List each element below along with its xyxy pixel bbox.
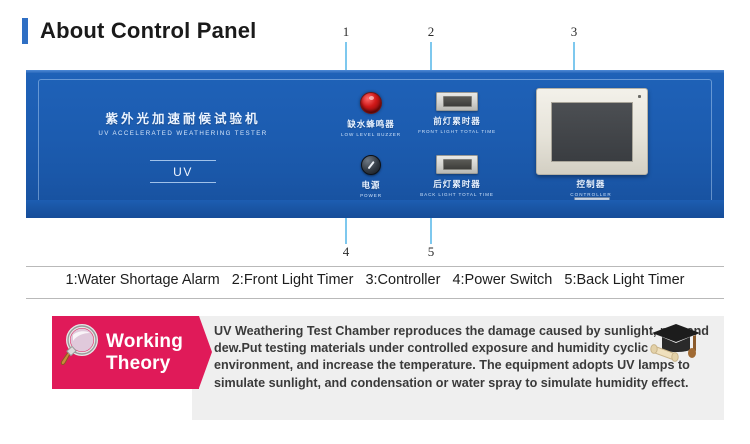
buzzer-lamp-icon[interactable] [360,92,382,114]
controller-hmi-unit[interactable] [536,88,648,175]
working-theory-tag-line2: Theory [106,353,199,375]
control-front-light-timer[interactable]: 前灯累时器 FRONT LIGHT TOTAL TIME [411,92,503,134]
control-low-level-buzzer[interactable]: 缺水蜂鸣器 LOW LEVEL BUZZER [326,92,416,137]
callout-number-1: 1 [339,24,353,40]
power-knob-icon[interactable] [361,155,381,175]
callout-leader-5 [430,218,432,244]
panel-brand-chinese: 紫外光加速耐候试验机 [88,108,278,127]
uv-badge: UV [150,160,216,183]
controller-touchscreen[interactable] [551,102,633,162]
buzzer-label-english: LOW LEVEL BUZZER [326,132,416,137]
power-label-chinese: 电源 [326,179,416,191]
magnifying-glass-icon [58,322,104,368]
page-title: About Control Panel [22,18,256,44]
front-timer-label-chinese: 前灯累时器 [411,115,503,127]
callout-number-3: 3 [567,24,581,40]
uv-badge-label: UV [173,165,193,179]
back-timer-label-chinese: 后灯累时器 [411,178,503,190]
control-panel-image: 紫外光加速耐候试验机 UV ACCELERATED WEATHERING TES… [26,70,724,218]
back-timer-label-english: BACK LIGHT TOTAL TIME [411,192,503,197]
controller-label-chinese: 控制器 [536,178,646,190]
graduation-cap-icon [646,320,702,364]
back-timer-lcd [443,159,472,170]
controller-led-icon [638,95,641,98]
caption-rule-bottom [26,298,724,299]
callout-leader-4 [345,218,347,244]
working-theory-body: UV Weathering Test Chamber reproduces th… [192,316,724,420]
caption-rule-top [26,266,724,267]
working-theory-text: UV Weathering Test Chamber reproduces th… [214,323,712,392]
panel-brand: 紫外光加速耐候试验机 UV ACCELERATED WEATHERING TES… [88,108,278,137]
caption-item-2: 2:Front Light Timer [232,272,354,288]
power-label-english: POWER [326,193,416,198]
front-timer-display-icon[interactable] [436,92,478,111]
callout-number-4: 4 [339,244,353,260]
buzzer-label-chinese: 缺水蜂鸣器 [326,118,416,130]
working-theory-tag: Working Theory [52,316,199,389]
back-timer-display-icon[interactable] [436,155,478,174]
caption-item-3: 3:Controller [365,272,440,288]
front-timer-lcd [443,96,472,107]
callout-leader-1 [345,42,347,70]
working-theory-tag-line1: Working [106,331,199,353]
caption-item-4: 4:Power Switch [452,272,552,288]
callout-number-2: 2 [424,24,438,40]
controller-caption: 控制器 CONTROLLER [536,178,646,197]
about-control-panel-page: About Control Panel 1 2 3 紫外光加速耐候试验机 UV … [0,0,750,444]
title-accent-bar [22,18,28,44]
callout-number-5: 5 [424,244,438,260]
caption: 1:Water Shortage Alarm 2:Front Light Tim… [26,272,724,288]
page-title-text: About Control Panel [40,18,256,44]
caption-item-5: 5:Back Light Timer [564,272,684,288]
panel-bottom-band [26,200,724,218]
caption-item-1: 1:Water Shortage Alarm [66,272,220,288]
control-power-switch[interactable]: 电源 POWER [326,155,416,198]
panel-brand-english: UV ACCELERATED WEATHERING TESTER [88,130,278,137]
working-theory-section: UV Weathering Test Chamber reproduces th… [52,316,724,420]
control-back-light-timer[interactable]: 后灯累时器 BACK LIGHT TOTAL TIME [411,155,503,197]
callout-leader-2 [430,42,432,70]
front-timer-label-english: FRONT LIGHT TOTAL TIME [411,129,503,134]
